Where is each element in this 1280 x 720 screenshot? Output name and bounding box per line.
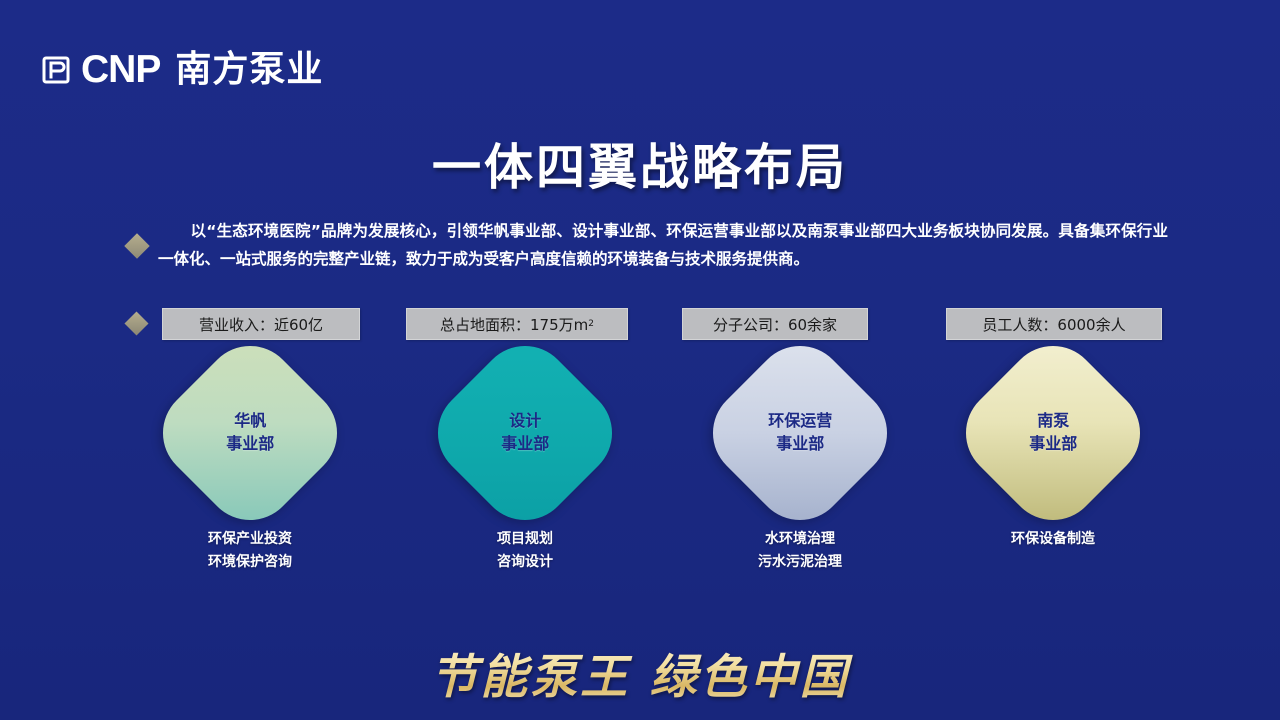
- stat-badge-area: 总占地面积：175万m2: [406, 308, 628, 340]
- petal-label: 环保运营 事业部: [768, 410, 832, 455]
- petal-caption: 项目规划 咨询设计: [415, 528, 635, 573]
- stat-label: 总占地面积：175万m: [440, 314, 588, 335]
- intro-paragraph: 以“生态环境医院”品牌为发展核心，引领华帆事业部、设计事业部、环保运营事业部以及…: [158, 218, 1168, 273]
- stat-superscript: 2: [588, 319, 594, 329]
- petal-label-line2: 事业部: [501, 433, 549, 456]
- petal-caption-line2: 污水污泥治理: [690, 551, 910, 574]
- petal-shape: 设计 事业部: [419, 327, 631, 539]
- diamond-bullet-icon: [124, 311, 148, 335]
- petal-label-line1: 环保运营: [768, 410, 832, 433]
- page-title: 一体四翼战略布局: [0, 128, 1280, 199]
- petal-shape: 环保运营 事业部: [694, 327, 906, 539]
- brand-name-en: CNP: [81, 50, 160, 89]
- petal-shape: 华帆 事业部: [144, 327, 356, 539]
- bottom-slogan: 节能泵王 绿色中国: [0, 638, 1280, 707]
- petal-caption-line1: 水环境治理: [690, 528, 910, 551]
- brand-logo: CNP 南方泵业: [40, 50, 323, 89]
- stat-badge-subsidiaries: 分子公司：60余家: [682, 308, 868, 340]
- petal-label: 华帆 事业部: [226, 410, 274, 455]
- stat-label: 员工人数：6000余人: [982, 314, 1125, 335]
- petal-caption-line2: 环境保护咨询: [140, 551, 360, 574]
- petal-caption: 环保产业投资 环境保护咨询: [140, 528, 360, 573]
- petal-label-line1: 南泵: [1029, 410, 1077, 433]
- petal-caption-line1: 项目规划: [415, 528, 635, 551]
- cnp-logo-mark-icon: [40, 54, 72, 86]
- brand-name-cn: 南方泵业: [175, 52, 323, 88]
- petal-caption: 环保设备制造: [943, 528, 1163, 551]
- petal-label-line1: 华帆: [226, 410, 274, 433]
- business-unit-huafan: 华帆 事业部 环保产业投资 环境保护咨询: [140, 358, 360, 573]
- stat-label: 营业收入：近60亿: [199, 314, 323, 335]
- business-unit-huanbaoyunying: 环保运营 事业部 水环境治理 污水污泥治理: [690, 358, 910, 573]
- business-unit-sheji: 设计 事业部 项目规划 咨询设计: [415, 358, 635, 573]
- diamond-bullet-icon: [124, 233, 149, 258]
- intro-block: 以“生态环境医院”品牌为发展核心，引领华帆事业部、设计事业部、环保运营事业部以及…: [128, 218, 1168, 273]
- petal-label-line1: 设计: [501, 410, 549, 433]
- stats-row: 营业收入：近60亿 总占地面积：175万m2 分子公司：60余家 员工人数：60…: [128, 308, 1168, 340]
- petal-label: 设计 事业部: [501, 410, 549, 455]
- business-unit-nanbeng: 南泵 事业部 环保设备制造: [943, 358, 1163, 551]
- petal-caption-line1: 环保设备制造: [943, 528, 1163, 551]
- petal-label-line2: 事业部: [226, 433, 274, 456]
- slide-canvas: CNP 南方泵业 一体四翼战略布局 以“生态环境医院”品牌为发展核心，引领华帆事…: [0, 0, 1280, 720]
- petal-caption-line1: 环保产业投资: [140, 528, 360, 551]
- petal-caption-line2: 咨询设计: [415, 551, 635, 574]
- petal-shape: 南泵 事业部: [947, 327, 1159, 539]
- stat-label: 分子公司：60余家: [713, 314, 837, 335]
- petal-label-line2: 事业部: [1029, 433, 1077, 456]
- petal-label: 南泵 事业部: [1029, 410, 1077, 455]
- stat-badge-employees: 员工人数：6000余人: [946, 308, 1162, 340]
- business-units-row: 华帆 事业部 环保产业投资 环境保护咨询 设计 事业部 项目规划 咨询设计: [0, 358, 1280, 578]
- petal-label-line2: 事业部: [768, 433, 832, 456]
- stat-badge-revenue: 营业收入：近60亿: [162, 308, 360, 340]
- petal-caption: 水环境治理 污水污泥治理: [690, 528, 910, 573]
